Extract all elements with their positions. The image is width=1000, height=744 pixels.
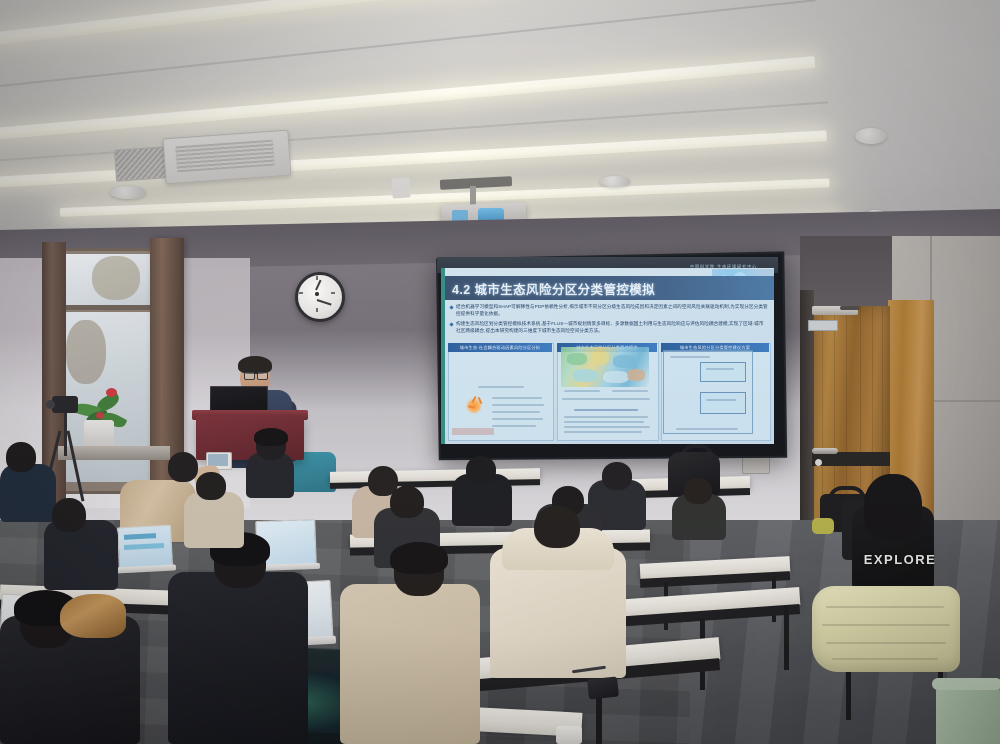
jacket-text: EXPLORE — [862, 552, 938, 567]
audience-person-head — [168, 452, 198, 482]
tree-outside-window — [92, 256, 140, 300]
slide-text-line — [492, 418, 543, 420]
desk-leg — [784, 606, 789, 670]
audience-person-torso — [0, 464, 56, 522]
window-mullion — [64, 305, 152, 310]
slide-text-line — [564, 421, 644, 423]
slide-text-line — [562, 398, 650, 400]
clock-tick — [331, 292, 335, 294]
slide-text-line — [492, 397, 542, 399]
slide-text-line — [492, 411, 540, 413]
slide-text-line — [564, 426, 650, 428]
slide-panel-header: 城市生态-社会耦合驱动因素风险分区分析 — [448, 343, 552, 352]
slide-panel-caption-line — [676, 428, 738, 430]
slide-text-line — [492, 404, 544, 406]
clock-tick — [316, 308, 318, 312]
audience-person-torso — [184, 492, 244, 548]
slide-legend-swatch — [452, 428, 494, 435]
waste-bin[interactable] — [936, 684, 1000, 744]
slide-text-line — [564, 390, 600, 392]
flow-node-label — [706, 399, 736, 401]
audience-person-torso — [44, 520, 118, 590]
slide-text-line — [612, 390, 648, 392]
red-flower — [106, 388, 117, 397]
slide-text-line — [564, 416, 648, 418]
lecture-hall-photo: 中国科学院 生态环境研究中心 4.2 城市生态风险分区分类管控模拟 结合机器学习… — [0, 0, 1000, 744]
camera-lens-icon — [46, 400, 55, 409]
audience-person-head — [390, 486, 424, 518]
clock-tick — [299, 292, 303, 294]
slide-text-line — [492, 425, 536, 427]
door-kickplate — [812, 452, 890, 466]
door-handle[interactable] — [812, 448, 838, 454]
audience-person-torso — [340, 584, 480, 744]
glasses-icon — [257, 372, 268, 380]
audience-person-head — [466, 456, 496, 484]
audience-person-head — [6, 442, 36, 472]
audience-person-head — [52, 498, 86, 532]
audience-person-hair — [254, 428, 288, 446]
smartphone-on-desk[interactable] — [587, 676, 619, 699]
door-lock-icon[interactable] — [815, 459, 822, 466]
flow-node — [700, 392, 746, 414]
slide-bullet-text: 构建生态风险区划分类管控模拟技术系统,基于FLUS—城市规划情景多目标、多源数据… — [456, 320, 768, 334]
person-explore-jacket-hair — [864, 474, 922, 540]
audience-person-hair — [390, 542, 448, 574]
audience-person-torso — [168, 572, 308, 744]
clock-center — [315, 292, 319, 296]
wall-sign — [808, 320, 838, 331]
slide-title: 4.2 城市生态风险分区分类管控模拟 — [452, 279, 702, 298]
door-closer-arm — [840, 306, 860, 310]
yellow-glove — [812, 518, 834, 534]
clock-tick — [316, 276, 318, 280]
slide-text-line — [564, 431, 642, 433]
slide-panel-caption-line — [574, 409, 638, 411]
video-camera — [52, 396, 78, 413]
audience-person-head — [602, 462, 632, 490]
fur-hood-trim — [60, 594, 126, 638]
audience-person-head — [684, 478, 712, 504]
land-use-map-graphic — [561, 347, 649, 387]
tripod-column — [64, 412, 67, 456]
puffer-coat-on-chair — [812, 586, 960, 672]
paper-cup[interactable] — [556, 726, 582, 744]
audience-person-head — [534, 506, 580, 548]
flow-node — [700, 362, 746, 382]
audience-person-head — [196, 472, 226, 500]
tree-outside-window — [66, 320, 106, 384]
slide-text-line — [670, 356, 710, 358]
slide-bullet-text: 结合机器学习模型和SHAP可解释性与PDP依赖性分析,揭示城市不同分区分级生态风… — [456, 303, 768, 317]
red-flower — [96, 412, 104, 419]
plant-pot — [84, 420, 114, 448]
slide-panel-caption-line — [478, 386, 524, 388]
glasses-icon — [244, 372, 255, 380]
flow-node-label — [706, 368, 734, 370]
waste-bin-lid[interactable] — [932, 678, 1000, 690]
